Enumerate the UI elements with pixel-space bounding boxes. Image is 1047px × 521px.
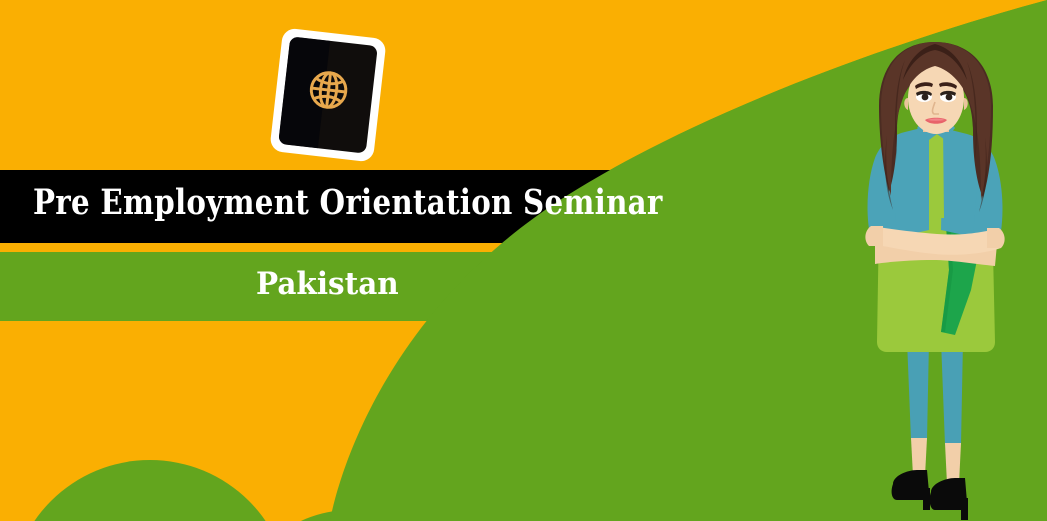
passport-icon — [269, 28, 386, 163]
heel-right — [961, 498, 968, 520]
event-banner: Pre Employment Orientation Seminar Pakis… — [0, 0, 1047, 521]
hand-right — [987, 228, 1005, 248]
ear-right — [964, 98, 968, 110]
ankle-right — [945, 443, 961, 484]
heel-left — [923, 488, 930, 510]
legging-right — [941, 340, 963, 445]
pupil-left — [922, 94, 929, 101]
kurta-placket — [929, 128, 944, 218]
page-title: Pre Employment Orientation Seminar — [33, 182, 663, 223]
hand-left — [865, 226, 883, 246]
globe-icon — [303, 65, 354, 116]
pupil-right — [946, 94, 953, 101]
legging-left — [907, 340, 929, 440]
ear-left — [904, 98, 908, 110]
subtitle-country: Pakistan — [256, 266, 399, 302]
woman-illustration — [845, 40, 1025, 521]
